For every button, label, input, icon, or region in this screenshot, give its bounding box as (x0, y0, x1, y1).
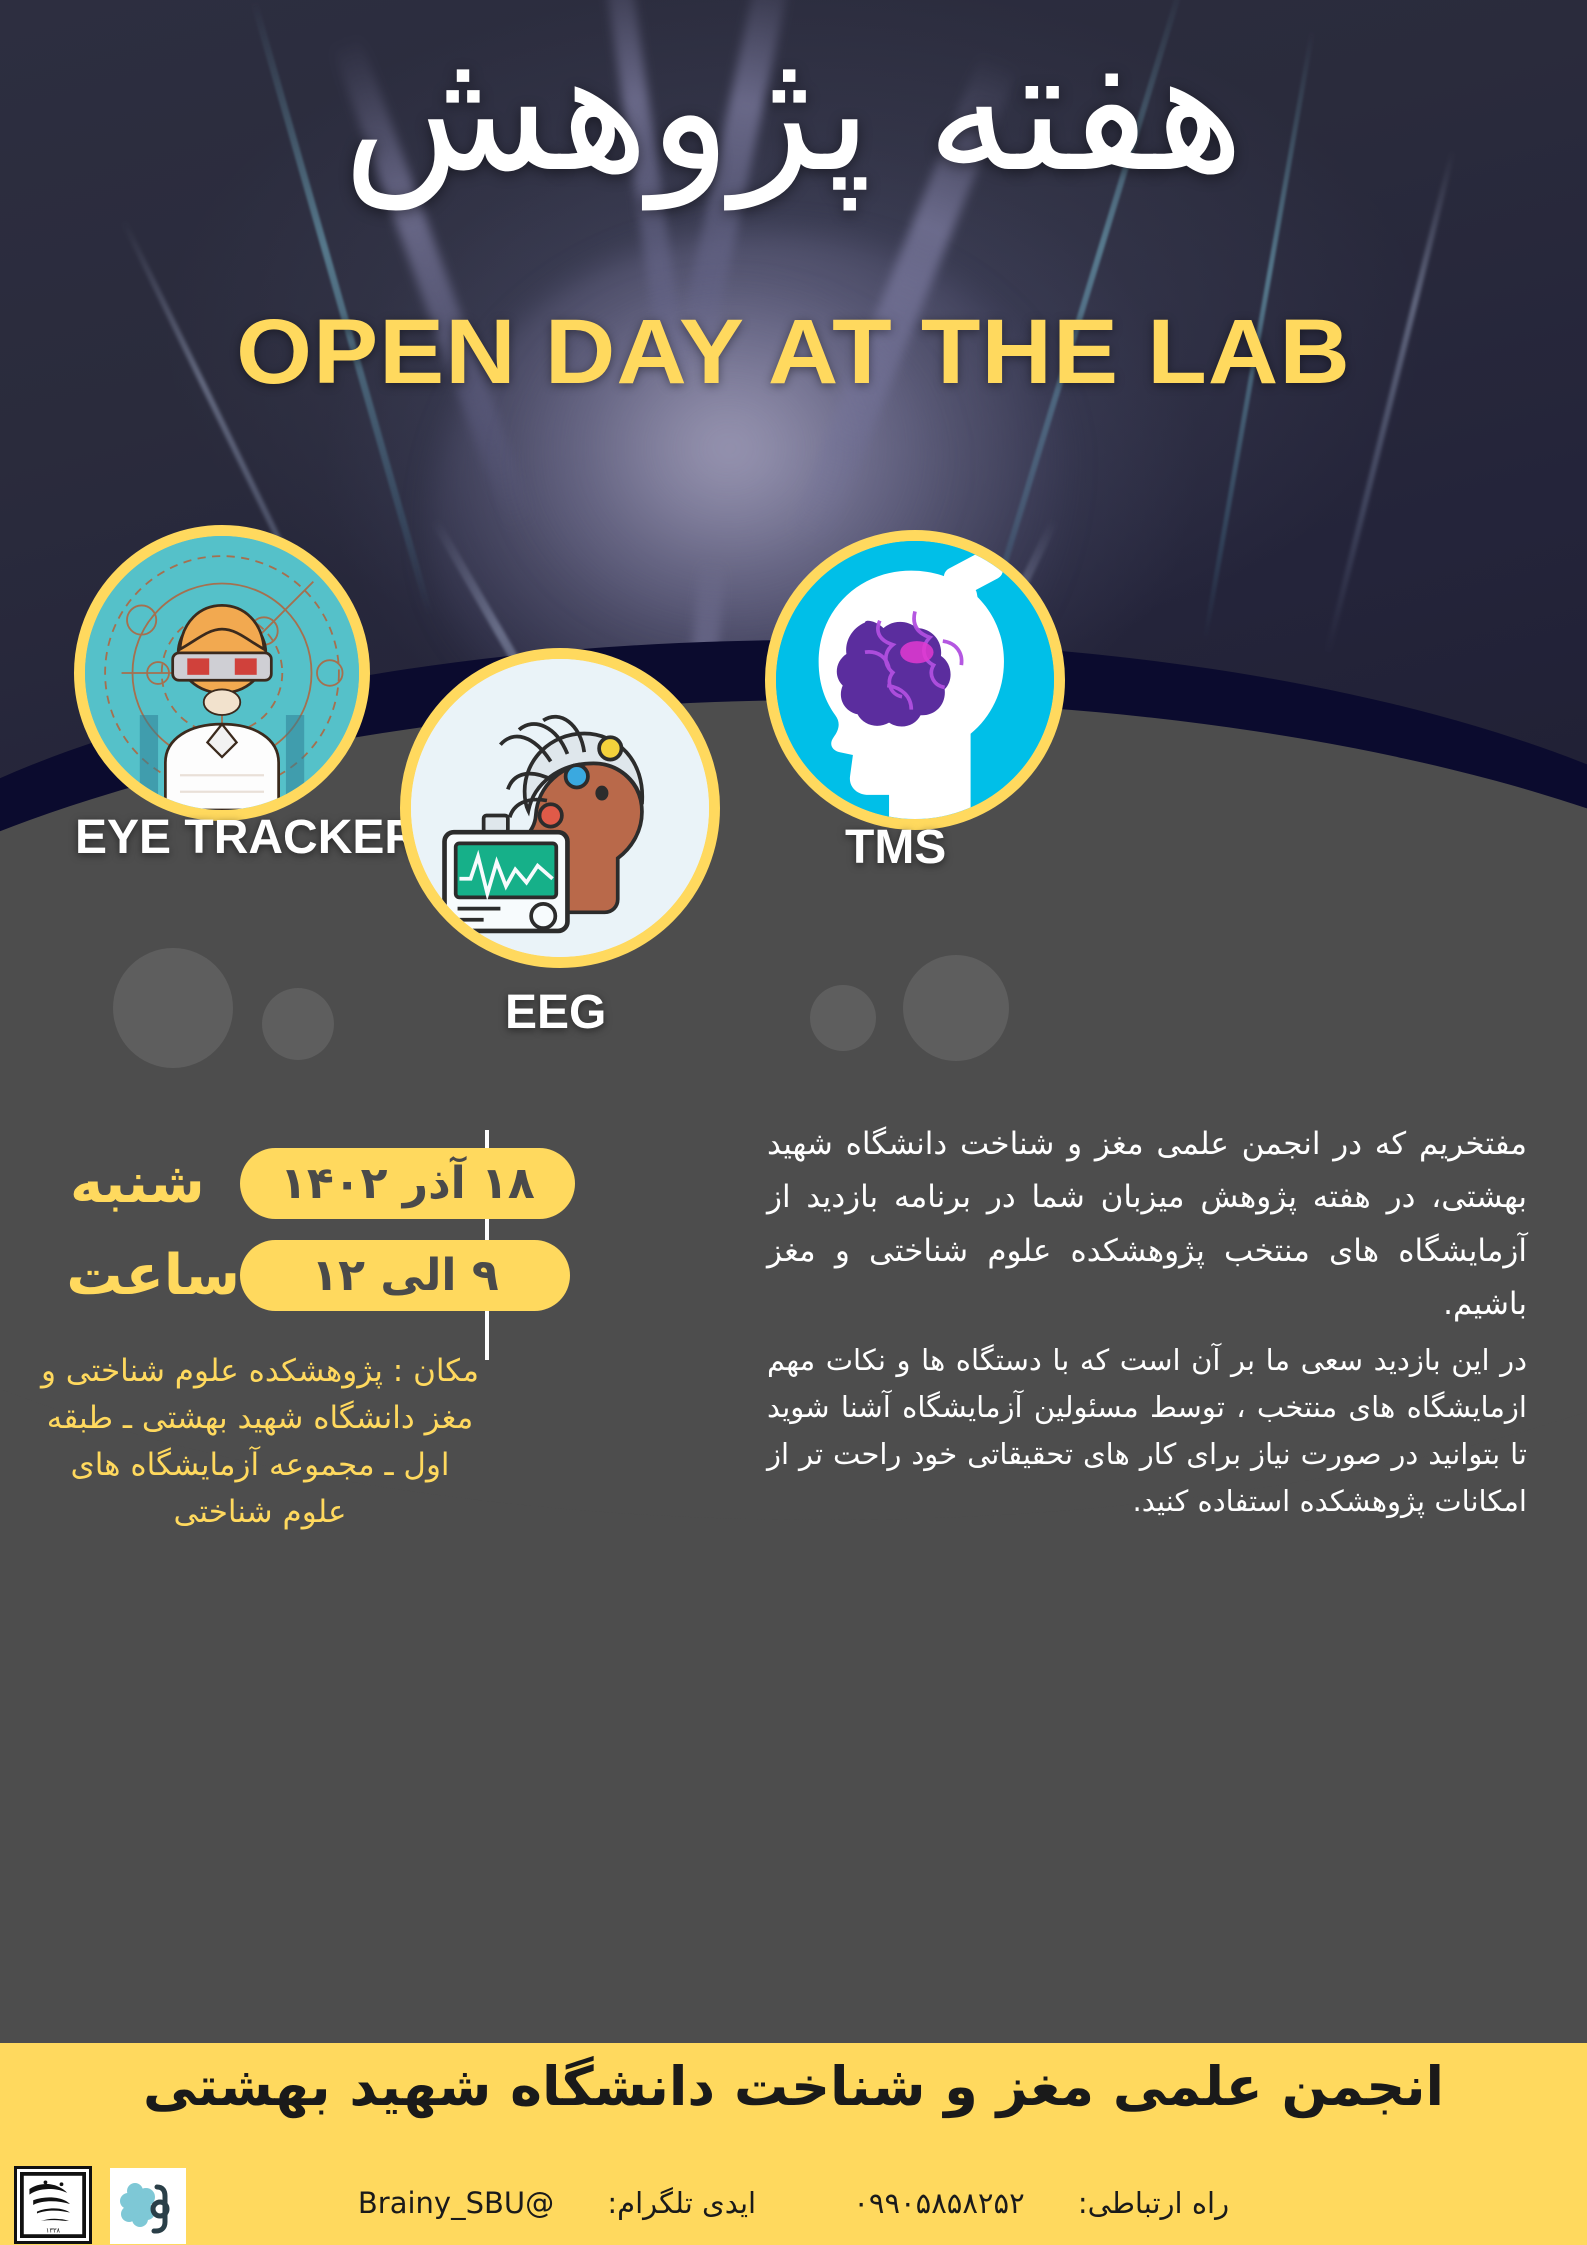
schedule-time-label: ساعت (70, 1243, 240, 1308)
decor-bubble (903, 955, 1009, 1061)
poster-root: هفته پژوهش OPEN DAY AT THE LAB (0, 0, 1587, 2245)
venue-text: مکان : پژوهشکده علوم شناختی و مغز دانشگا… (40, 1348, 480, 1536)
station-circle-eeg[interactable] (400, 648, 720, 968)
station-label-tms: TMS (845, 820, 946, 875)
schedule-day-value: ۱۸ آذر ۱۴۰۲ (240, 1148, 575, 1219)
description-block: مفتخریم که در انجمن علمی مغز و شناخت دان… (767, 1118, 1527, 1531)
decor-bubble (262, 988, 334, 1060)
footer-organization: انجمن علمی مغز و شناخت دانشگاه شهید بهشت… (0, 2055, 1587, 2118)
decor-bubble (810, 985, 876, 1051)
page-title-english: OPEN DAY AT THE LAB (0, 300, 1587, 405)
station-circle-tms[interactable] (765, 530, 1065, 830)
schedule-time-value: ۹ الی ۱۲ (240, 1240, 570, 1311)
station-label-eye-tracker: EYE TRACKER (75, 810, 419, 865)
page-title-persian: هفته پژوهش (0, 22, 1587, 201)
schedule-day-row: شنبه ۱۸ آذر ۱۴۰۲ (70, 1148, 599, 1219)
association-logo (110, 2168, 186, 2244)
station-circle-eye-tracker[interactable] (74, 525, 370, 821)
university-logo: ۱۳۳۸ (14, 2166, 92, 2244)
decor-bubble (113, 948, 233, 1068)
schedule-time-row: ساعت ۹ الی ۱۲ (70, 1240, 594, 1311)
contact-phone-label: راه ارتباطی: ۰۹۹۰۵۸۵۸۲۵۲ (831, 2186, 1251, 2220)
sbu-logo-icon: ۱۳۳۸ (20, 2172, 86, 2238)
schedule-day-label: شنبه (70, 1151, 240, 1216)
footer-contact-row: راه ارتباطی: ۰۹۹۰۵۸۵۸۲۵۲ ایدی تلگرام: @B… (0, 2186, 1587, 2220)
eeg-icon (411, 659, 709, 957)
station-label-eeg: EEG (505, 985, 606, 1040)
svg-text:۱۳۳۸: ۱۳۳۸ (46, 2226, 61, 2234)
contact-label-text: راه ارتباطی: (1078, 2186, 1229, 2220)
description-paragraph-1: مفتخریم که در انجمن علمی مغز و شناخت دان… (767, 1118, 1527, 1331)
telegram-label-text: ایدی تلگرام: (607, 2186, 756, 2220)
eye-tracker-icon (85, 536, 359, 810)
telegram-handle-value[interactable]: @Brainy_SBU (358, 2186, 554, 2220)
description-paragraph-2: در این بازدید سعی ما بر آن است که با دست… (767, 1337, 1527, 1525)
contact-phone-value: ۰۹۹۰۵۸۵۸۲۵۲ (853, 2186, 1024, 2220)
brain-logo-icon (113, 2171, 183, 2241)
telegram-block[interactable]: ایدی تلگرام: @Brainy_SBU (336, 2186, 778, 2220)
tms-icon (776, 541, 1054, 819)
